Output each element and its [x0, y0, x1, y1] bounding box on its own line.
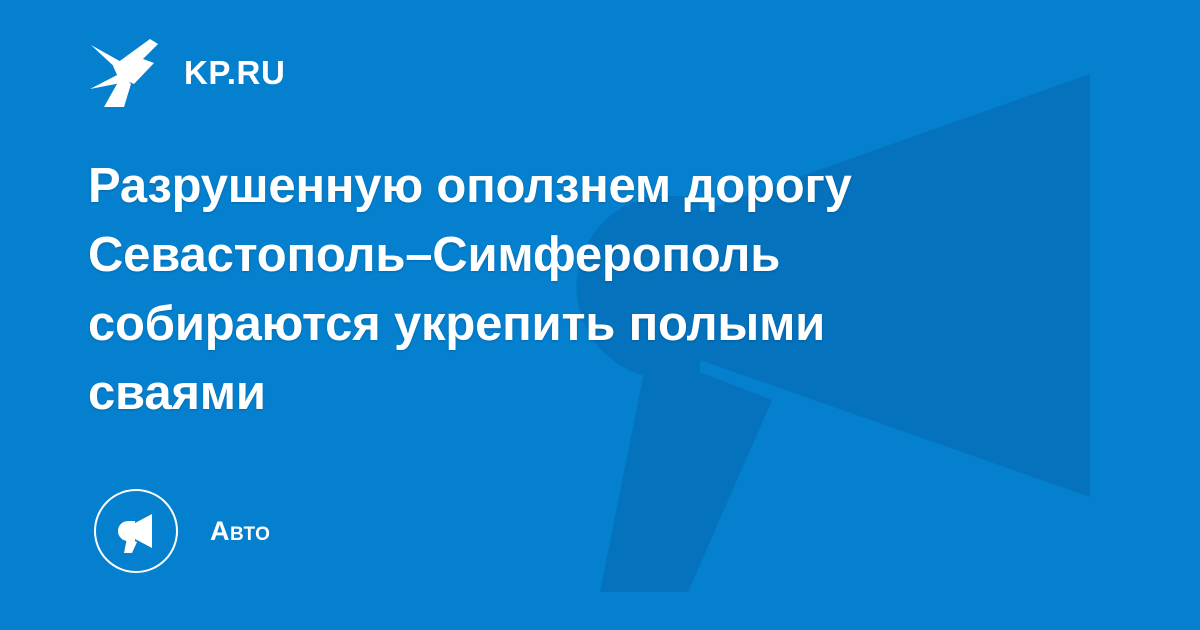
headline-line: Севастополь–Симферополь — [88, 221, 1048, 290]
social-share-card: KP.RU Разрушенную оползнем дорогу Севаст… — [0, 0, 1200, 630]
rubric-label: Авто — [210, 518, 270, 545]
megaphone-icon — [113, 508, 159, 554]
page-title: Разрушенную оползнем дорогу Севастополь–… — [88, 152, 1048, 428]
headline-line: сваями — [88, 359, 1048, 428]
headline-line: собираются укрепить полыми — [88, 290, 1048, 359]
rubric-badge[interactable]: Авто — [94, 488, 270, 574]
swallow-bird-icon — [88, 37, 162, 107]
headline-line: Разрушенную оползнем дорогу — [88, 152, 1048, 221]
brand-logo[interactable]: KP.RU — [88, 36, 285, 108]
brand-wordmark: KP.RU — [184, 56, 285, 89]
rubric-icon-circle — [94, 489, 178, 573]
